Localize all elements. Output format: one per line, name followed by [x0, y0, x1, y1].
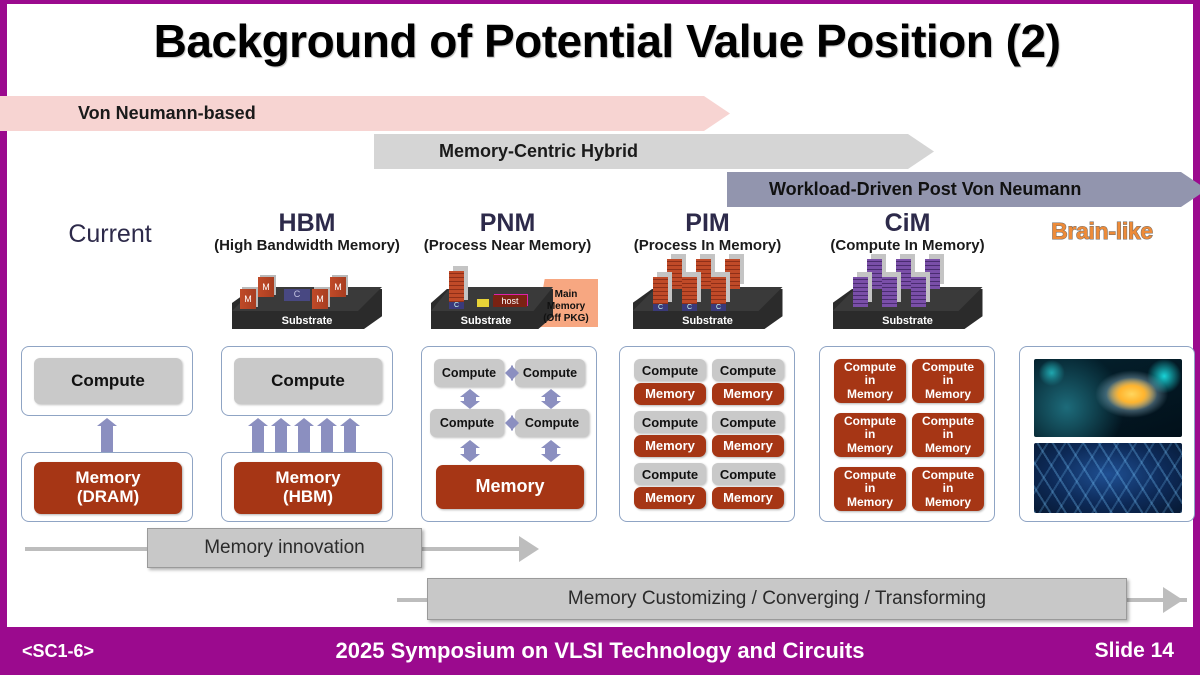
- pim-compute-layer: C: [711, 304, 726, 311]
- current-memory-panel: Memory (DRAM): [21, 452, 193, 522]
- column-title-pim: PIM: [615, 209, 800, 237]
- column-brain-like: Brain-like: [1012, 209, 1192, 245]
- cim-stack: [882, 277, 897, 307]
- pim-memory-box: Memory: [712, 487, 784, 509]
- die-label: M: [240, 289, 256, 309]
- pnm-compute-box: Compute: [434, 359, 504, 387]
- die-label: M: [258, 277, 274, 297]
- column-subtitle-hbm: (High Bandwidth Memory): [212, 237, 402, 255]
- column-pim: PIM (Process In Memory) C C C Substrate: [615, 209, 800, 329]
- column-header: CiM (Compute In Memory): [815, 209, 1000, 255]
- column-title-pnm: PNM: [415, 209, 600, 237]
- memory-customizing-box: Memory Customizing / Converging / Transf…: [427, 578, 1127, 620]
- pnm-interposer-link: [477, 299, 489, 307]
- footer-slide-number: Slide 14: [1095, 639, 1174, 663]
- hbm-compute-panel: Compute: [221, 346, 393, 416]
- pim-compute-layer: C: [682, 304, 697, 311]
- banner-label: Workload-Driven Post Von Neumann: [769, 179, 1081, 200]
- pim-memory-box: Memory: [712, 435, 784, 457]
- cim-stack: [867, 259, 882, 289]
- pnm-memory-stack: C: [449, 271, 464, 305]
- banner-label: Memory-Centric Hybrid: [439, 141, 638, 162]
- column-subtitle-pnm: (Process Near Memory): [415, 237, 600, 255]
- pim-panel: Compute Memory Compute Memory Compute Me…: [619, 346, 795, 522]
- hbm-memory-die: M: [258, 277, 274, 297]
- column-title-current: Current: [15, 209, 205, 248]
- hbm-memory-die: M: [240, 289, 256, 309]
- pim-compute-layer: C: [653, 304, 668, 311]
- pnm-vertical-link-arrow: [464, 396, 476, 402]
- pim-compute-box: Compute: [712, 411, 784, 433]
- pnm-host-block: host: [493, 295, 527, 307]
- column-header: Current: [15, 209, 205, 248]
- memory-label-line1: Memory: [75, 469, 140, 488]
- pim-stack: [725, 259, 740, 289]
- pnm-compute-box: Compute: [515, 359, 585, 387]
- main-memory-line2: Memory: [534, 301, 598, 313]
- cim-line2: in: [865, 482, 876, 495]
- pim-compute-box: Compute: [712, 359, 784, 381]
- banner-von-neumann-based: Von Neumann-based: [0, 96, 730, 131]
- pim-compute-box: Compute: [634, 463, 706, 485]
- synapse-neuron-image: [1034, 359, 1182, 437]
- pnm-main-memory-label: Main Memory (Off PKG): [534, 289, 598, 325]
- slide-root: Background of Potential Value Position (…: [0, 0, 1200, 675]
- hbm-memory-panel: Memory (HBM): [221, 452, 393, 522]
- pim-compute-box: Compute: [634, 359, 706, 381]
- memory-box: Memory (DRAM): [34, 462, 182, 514]
- column-title-cim: CiM: [815, 209, 1000, 237]
- die-label: M: [312, 289, 328, 309]
- column-subtitle-cim: (Compute In Memory): [815, 237, 1000, 255]
- cim-stack: [896, 259, 911, 289]
- pim-stack: C: [711, 277, 726, 307]
- pim-compute-box: Compute: [712, 463, 784, 485]
- slide-footer: <SC1-6> 2025 Symposium on VLSI Technolog…: [0, 627, 1200, 675]
- cim-stack: [925, 259, 940, 289]
- cim-line2: in: [943, 374, 954, 387]
- hbm-memory-die: M: [330, 277, 346, 297]
- cim-panel: Compute in Memory Compute in Memory Comp…: [819, 346, 995, 522]
- compute-box: Compute: [234, 358, 382, 404]
- column-title-hbm: HBM: [212, 209, 402, 237]
- substrate-label: Substrate: [815, 315, 1000, 327]
- pim-chip-illustration: C C C Substrate: [615, 259, 800, 329]
- main-memory-line3: (Off PKG): [534, 313, 598, 325]
- column-title-brain-like: Brain-like: [1012, 209, 1192, 245]
- column-pnm: PNM (Process Near Memory) C host Substra…: [415, 209, 600, 329]
- cim-line3: Memory: [847, 442, 893, 455]
- pnm-vertical-link-arrow: [545, 396, 557, 402]
- cim-line2: in: [865, 428, 876, 441]
- pnm-panel: Compute Compute Compute Compute Memory: [421, 346, 597, 522]
- pim-stack: C: [682, 277, 697, 307]
- cim-line3: Memory: [925, 442, 971, 455]
- pim-memory-box: Memory: [634, 383, 706, 405]
- pim-stack: C: [653, 277, 668, 307]
- page-title: Background of Potential Value Position (…: [7, 14, 1200, 68]
- pnm-memory-box: Memory: [436, 465, 584, 509]
- cim-box: Compute in Memory: [834, 467, 906, 511]
- pim-compute-box: Compute: [634, 411, 706, 433]
- column-subtitle-pim: (Process In Memory): [615, 237, 800, 255]
- memory-label-line2: (HBM): [283, 488, 333, 507]
- pim-stack: [667, 259, 682, 289]
- main-memory-line1: Main: [534, 289, 598, 301]
- column-header: PIM (Process In Memory): [615, 209, 800, 255]
- cim-line3: Memory: [847, 388, 893, 401]
- cim-line2: in: [865, 374, 876, 387]
- substrate-label: Substrate: [425, 315, 547, 327]
- compute-box: Compute: [34, 358, 182, 404]
- cim-box: Compute in Memory: [912, 413, 984, 457]
- pim-memory-box: Memory: [634, 487, 706, 509]
- die-label: M: [330, 277, 346, 297]
- memory-innovation-arrowhead: [519, 536, 539, 562]
- memory-innovation-box: Memory innovation: [147, 528, 422, 568]
- column-current: Current: [15, 209, 205, 248]
- banner-memory-centric-hybrid: Memory-Centric Hybrid: [374, 134, 934, 169]
- column-header: HBM (High Bandwidth Memory): [212, 209, 402, 255]
- memory-label-line2: (DRAM): [77, 488, 139, 507]
- hbm-compute-die: C: [284, 289, 310, 301]
- pnm-chip-illustration: C host Substrate Main Memory (Off PKG): [415, 259, 600, 329]
- column-hbm: HBM (High Bandwidth Memory) M M M M C Su…: [212, 209, 402, 329]
- cim-box: Compute in Memory: [834, 413, 906, 457]
- cim-line2: in: [943, 482, 954, 495]
- dna-helix-image: [1034, 443, 1182, 513]
- banner-label: Von Neumann-based: [78, 103, 256, 124]
- cim-box: Compute in Memory: [912, 467, 984, 511]
- memory-customizing-arrowhead: [1163, 587, 1183, 613]
- pnm-compute-box: Compute: [430, 409, 504, 437]
- cim-line3: Memory: [925, 388, 971, 401]
- pim-stack: [696, 259, 711, 289]
- cim-chip-illustration: Substrate: [815, 259, 1000, 329]
- hbm-memory-die: M: [312, 289, 328, 309]
- cim-line2: in: [943, 428, 954, 441]
- column-header: PNM (Process Near Memory): [415, 209, 600, 255]
- memory-box: Memory (HBM): [234, 462, 382, 514]
- pnm-vertical-link-arrow: [545, 447, 557, 455]
- memory-label-line1: Memory: [275, 469, 340, 488]
- hbm-chip-illustration: M M M M C Substrate: [212, 259, 402, 329]
- substrate-label: Substrate: [615, 315, 800, 327]
- pim-memory-box: Memory: [634, 435, 706, 457]
- current-compute-panel: Compute: [21, 346, 193, 416]
- cim-box: Compute in Memory: [834, 359, 906, 403]
- column-cim: CiM (Compute In Memory) Substrate: [815, 209, 1000, 329]
- footer-conference-name: 2025 Symposium on VLSI Technology and Ci…: [0, 638, 1200, 664]
- pim-memory-box: Memory: [712, 383, 784, 405]
- cim-stack: [853, 277, 868, 307]
- cim-box: Compute in Memory: [912, 359, 984, 403]
- substrate-label: Substrate: [212, 315, 402, 327]
- cim-line3: Memory: [925, 496, 971, 509]
- cim-stack: [911, 277, 926, 307]
- pnm-vertical-link-arrow: [464, 447, 476, 455]
- pnm-compute-layer: C: [449, 302, 464, 309]
- brain-like-panel: [1019, 346, 1195, 522]
- cim-line3: Memory: [847, 496, 893, 509]
- pnm-compute-box: Compute: [515, 409, 589, 437]
- banner-workload-driven-post-von-neumann: Workload-Driven Post Von Neumann: [727, 172, 1200, 207]
